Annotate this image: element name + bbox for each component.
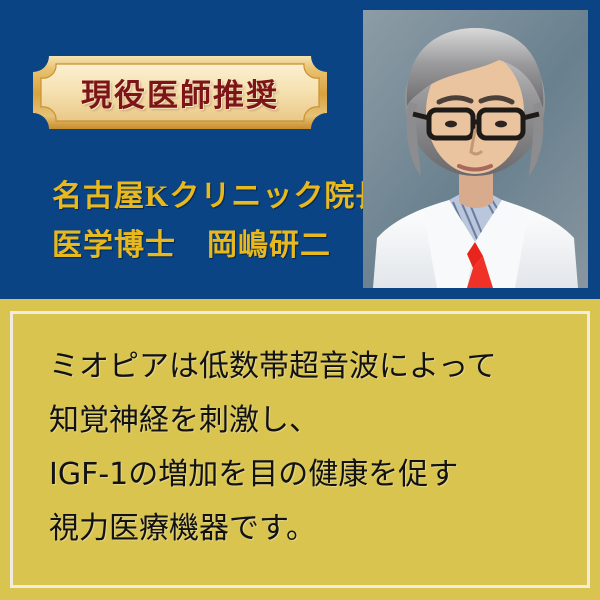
description-text: ミオピアは低数帯超音波によって 知覚神経を刺激し、 IGF-1の増加を目の健康を…: [49, 340, 567, 556]
panel-inset-border: ミオピアは低数帯超音波によって 知覚神経を刺激し、 IGF-1の増加を目の健康を…: [10, 311, 590, 588]
advertisement-banner: 現役医師推奨 名古屋Kクリニック院長 医学博士 岡嶋研二: [0, 0, 600, 600]
description-line-1: ミオピアは低数帯超音波によって: [49, 340, 567, 394]
description-gold-panel: ミオピアは低数帯超音波によって 知覚神経を刺激し、 IGF-1の増加を目の健康を…: [0, 299, 600, 600]
description-line-3: IGF-1の増加を目の健康を促す: [49, 448, 567, 502]
header-navy-section: 現役医師推奨 名古屋Kクリニック院長 医学博士 岡嶋研二: [0, 0, 600, 299]
description-line-4: 視力医療機器です。: [49, 502, 567, 556]
badge-label: 現役医師推奨: [33, 56, 327, 129]
portrait-illustration: [363, 10, 588, 288]
doctor-name: 医学博士 岡嶋研二: [52, 220, 331, 264]
recommendation-badge: 現役医師推奨: [33, 56, 327, 129]
description-line-2: 知覚神経を刺激し、: [49, 394, 567, 448]
doctor-clinic-title: 名古屋Kクリニック院長: [52, 171, 386, 215]
doctor-portrait-photo: [363, 10, 588, 288]
